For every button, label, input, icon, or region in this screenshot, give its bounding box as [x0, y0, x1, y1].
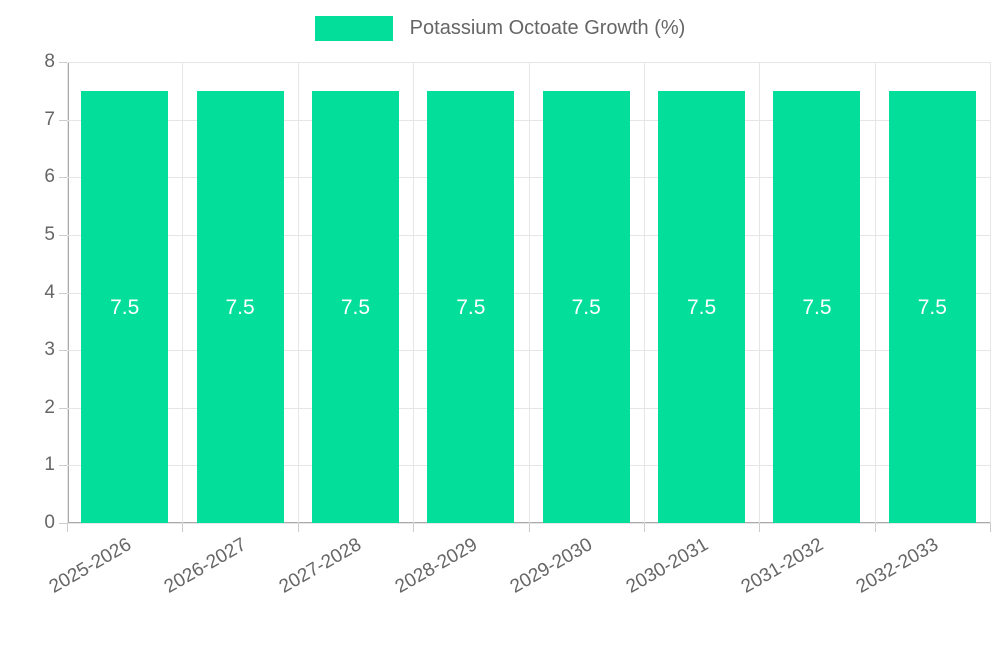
x-axis-tick-label: 2028-2029: [298, 535, 481, 651]
x-axis-tick-label: 2025-2026: [0, 535, 134, 651]
x-axis-tick-mark: [67, 523, 68, 532]
y-axis-tick-mark: [59, 408, 67, 409]
bar-value-label: 7.5: [81, 297, 168, 318]
gridline-vertical: [759, 62, 760, 523]
y-axis-tick-mark: [59, 177, 67, 178]
plot-area: 7.57.57.57.57.57.57.57.5: [67, 62, 990, 523]
y-axis-tick-mark: [59, 62, 67, 63]
x-axis-tick-mark: [644, 523, 645, 532]
y-axis-tick-label: 6: [11, 167, 55, 186]
bar-value-label: 7.5: [889, 297, 976, 318]
bar-value-label: 7.5: [773, 297, 860, 318]
x-axis-tick-mark: [990, 523, 991, 532]
bar-chart: Potassium Octoate Growth (%) 7.57.57.57.…: [0, 0, 1000, 600]
gridline-vertical: [413, 62, 414, 523]
x-axis-tick-mark: [875, 523, 876, 532]
bar-value-label: 7.5: [427, 297, 514, 318]
gridline-vertical: [644, 62, 645, 523]
gridline-vertical: [875, 62, 876, 523]
legend-item-label: Potassium Octoate Growth (%): [410, 18, 686, 38]
legend-color-swatch: [315, 16, 393, 41]
chart-legend: Potassium Octoate Growth (%): [0, 10, 1000, 46]
x-axis-tick-label: 2030-2031: [528, 535, 711, 651]
x-axis-tick-label: 2029-2030: [413, 535, 596, 651]
gridline-vertical: [990, 62, 991, 523]
bar-value-label: 7.5: [658, 297, 745, 318]
y-axis-tick-label: 3: [11, 340, 55, 359]
y-axis-tick-mark: [59, 465, 67, 466]
x-axis-tick-mark: [529, 523, 530, 532]
x-axis-tick-mark: [182, 523, 183, 532]
y-axis-tick-label: 5: [11, 225, 55, 244]
y-axis-tick-label: 0: [11, 513, 55, 532]
x-axis-tick-mark: [413, 523, 414, 532]
gridline-vertical: [298, 62, 299, 523]
y-axis-tick-mark: [59, 293, 67, 294]
gridline-horizontal: [67, 523, 990, 524]
x-axis-tick-label: 2027-2028: [182, 535, 365, 651]
legend-item-potassium-octoate-growth[interactable]: Potassium Octoate Growth (%): [315, 16, 686, 41]
y-axis-tick-label: 7: [11, 110, 55, 129]
y-axis-tick-label: 8: [11, 52, 55, 71]
bar-value-label: 7.5: [543, 297, 630, 318]
y-axis-tick-label: 2: [11, 398, 55, 417]
y-axis-tick-label: 4: [11, 283, 55, 302]
y-axis-tick-mark: [59, 120, 67, 121]
gridline-vertical: [529, 62, 530, 523]
gridline-vertical: [182, 62, 183, 523]
gridline-vertical: [67, 62, 68, 523]
y-axis-tick-label: 1: [11, 455, 55, 474]
y-axis-tick-mark: [59, 350, 67, 351]
x-axis-tick-label: 2031-2032: [644, 535, 827, 651]
x-axis-tick-label: 2026-2027: [67, 535, 250, 651]
bar-value-label: 7.5: [197, 297, 284, 318]
y-axis-tick-mark: [59, 235, 67, 236]
x-axis-tick-mark: [759, 523, 760, 532]
x-axis-tick-label: 2032-2033: [759, 535, 942, 651]
y-axis-tick-mark: [59, 523, 67, 524]
bar-value-label: 7.5: [312, 297, 399, 318]
x-axis-tick-mark: [298, 523, 299, 532]
